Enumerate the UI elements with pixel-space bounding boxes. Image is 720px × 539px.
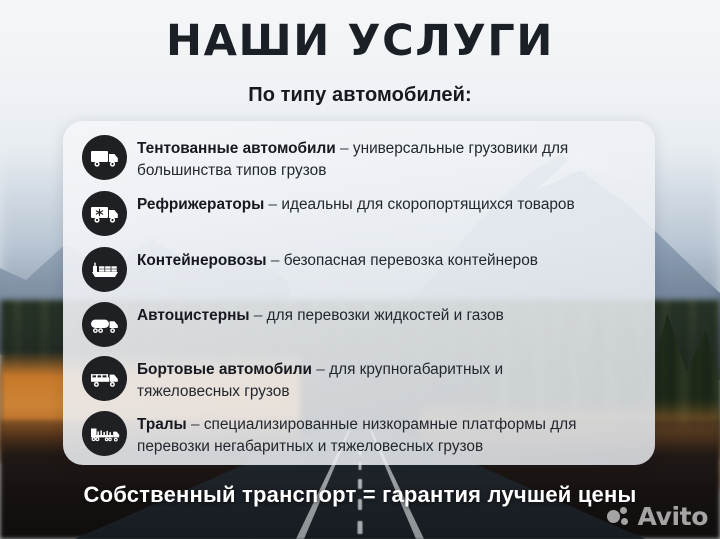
list-item[interactable]: Автоцистерны – для перевозки жидкостей и… — [63, 302, 655, 348]
list-item-text: Рефрижераторы – идеальны для скоропортящ… — [137, 191, 575, 216]
list-item[interactable]: Рефрижераторы – идеальны для скоропортящ… — [63, 191, 655, 237]
list-item-text: Тралы – специализированные низкорамные п… — [137, 411, 592, 457]
list-item-description: специализированные низкорамные платформы… — [137, 416, 577, 455]
list-item-description: идеальны для скоропортящихся товаров — [281, 196, 574, 213]
page-title: НАШИ УСЛУГИ — [0, 20, 720, 63]
list-item-text: Тентованные автомобили – универсальные г… — [137, 135, 592, 181]
list-item-description: безопасная перевозка контейнеров — [284, 252, 538, 269]
list-item[interactable]: Тентованные автомобили – универсальные г… — [63, 135, 655, 181]
promo-banner: НАШИ УСЛУГИ По типу автомобилей: Т — [0, 0, 720, 539]
avito-watermark: Avito — [607, 504, 708, 529]
list-item-title: Бортовые автомобили — [137, 361, 312, 378]
refrigerator-truck-icon — [82, 191, 127, 236]
list-item-title: Тралы — [137, 416, 187, 433]
list-item-separator: – — [312, 361, 329, 378]
lowboy-trailer-icon — [82, 411, 127, 456]
list-item[interactable]: Контейнеровозы – безопасная перевозка ко… — [63, 247, 655, 293]
services-list: Тентованные автомобили – универсальные г… — [63, 121, 655, 465]
container-ship-icon — [82, 247, 127, 292]
list-item-text: Автоцистерны – для перевозки жидкостей и… — [137, 302, 504, 327]
list-item[interactable]: Тралы – специализированные низкорамные п… — [63, 411, 655, 457]
page-subtitle: По типу автомобилей: — [0, 84, 720, 107]
list-item-title: Автоцистерны — [137, 307, 250, 324]
list-item-title: Тентованные автомобили — [137, 140, 336, 157]
avito-logo-icon — [607, 506, 633, 528]
list-item-text: Бортовые автомобили – для крупногабаритн… — [137, 356, 592, 402]
list-item-description: для перевозки жидкостей и газов — [267, 307, 504, 324]
list-item-separator: – — [267, 252, 284, 269]
list-item-separator: – — [187, 416, 204, 433]
list-item-separator: – — [336, 140, 353, 157]
list-item-title: Рефрижераторы — [137, 196, 264, 213]
list-item-text: Контейнеровозы – безопасная перевозка ко… — [137, 247, 538, 272]
avito-watermark-label: Avito — [638, 504, 708, 529]
box-truck-icon — [82, 135, 127, 180]
list-item-separator: – — [250, 307, 267, 324]
tanker-truck-icon — [82, 302, 127, 347]
services-card: Тентованные автомобили – универсальные г… — [63, 121, 655, 465]
flatbed-truck-icon — [82, 356, 127, 401]
list-item-separator: – — [264, 196, 281, 213]
list-item[interactable]: Бортовые автомобили – для крупногабаритн… — [63, 356, 655, 402]
list-item-title: Контейнеровозы — [137, 252, 267, 269]
